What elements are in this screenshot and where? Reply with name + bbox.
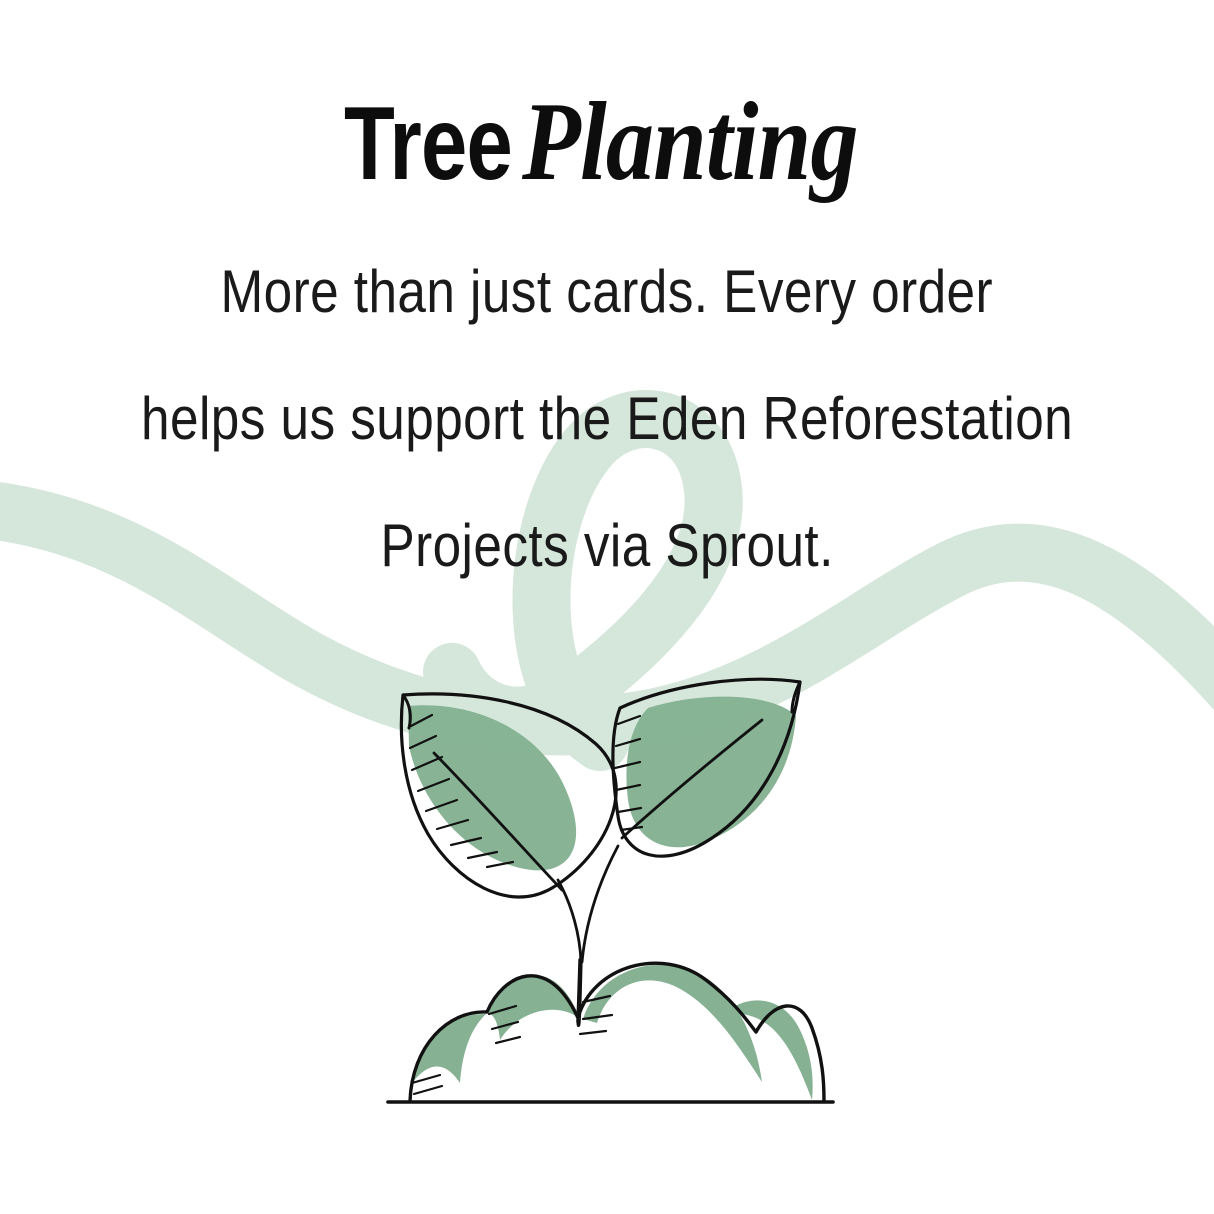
body-line-2-text: helps us support the Eden Reforestation [141, 389, 1073, 449]
soil-mound [410, 963, 824, 1101]
body-line-1: More than just cards. Every order [0, 262, 1214, 322]
body-line-3-text: Projects via Sprout. [380, 516, 833, 576]
tree-planting-graphic: TreePlanting More than just cards. Every… [0, 0, 1214, 1214]
page-title: TreePlanting [0, 86, 1214, 198]
right-leaf [613, 679, 800, 856]
body-line-2: helps us support the Eden Reforestation [0, 389, 1214, 449]
page-title-bold: Tree [344, 92, 512, 196]
body-line-1-text: More than just cards. Every order [221, 262, 994, 322]
left-leaf [401, 694, 616, 897]
body-line-3: Projects via Sprout. [0, 516, 1214, 576]
page-title-italic: Planting [522, 86, 858, 198]
